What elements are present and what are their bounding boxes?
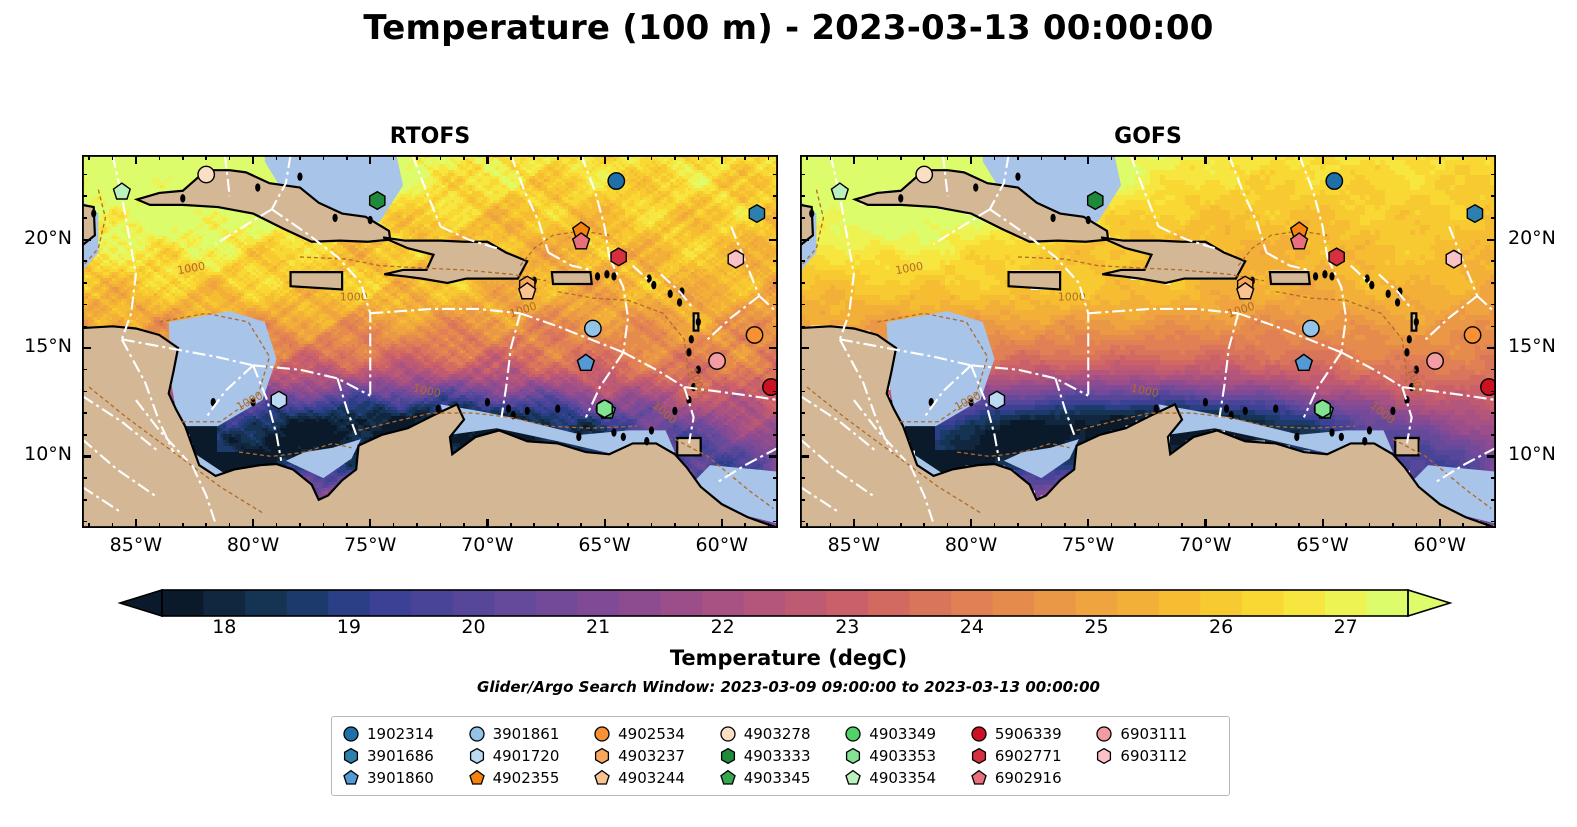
tick	[346, 523, 348, 528]
tick	[1017, 155, 1019, 160]
xtick-label-gofs-2: 75°W	[1048, 534, 1128, 556]
xtick-label-gofs-1: 80°W	[931, 534, 1011, 556]
tick	[800, 304, 805, 306]
tick	[853, 519, 855, 528]
tick	[1491, 521, 1496, 523]
colorbar-band	[1200, 590, 1242, 616]
tick	[252, 519, 254, 528]
legend-item-4903345[interactable]: 4903345	[719, 769, 845, 787]
tick	[182, 155, 184, 160]
tick	[1486, 155, 1488, 160]
colorbar-band	[1283, 590, 1325, 616]
tick	[1491, 304, 1496, 306]
tick	[800, 434, 805, 436]
tick	[698, 155, 700, 160]
legend-marker-hexagon-icon	[1095, 747, 1113, 765]
legend-marker-pentagon-icon	[342, 769, 360, 787]
colorbar-band	[453, 590, 495, 616]
tick	[947, 523, 949, 528]
search-window-caption: Glider/Argo Search Window: 2023-03-09 09…	[0, 678, 1577, 696]
tick	[276, 523, 278, 528]
legend-label: 6902916	[995, 769, 1062, 787]
tick	[830, 523, 832, 528]
legend-marker-pentagon-icon	[593, 769, 611, 787]
legend-label: 4902534	[618, 725, 685, 743]
legend-label: 4903244	[618, 769, 685, 787]
legend-label: 4903345	[744, 769, 811, 787]
tick	[1111, 523, 1113, 528]
legend-label: 6902771	[995, 747, 1062, 765]
legend-marker-hexagon-icon	[844, 747, 862, 765]
ytick-label-left-2: 10°N	[4, 443, 72, 465]
tick	[346, 155, 348, 160]
tick	[994, 523, 996, 528]
xtick-label-gofs-3: 70°W	[1165, 534, 1245, 556]
tick	[82, 304, 87, 306]
tick	[773, 260, 778, 262]
colorbar-band	[1242, 590, 1284, 616]
tick	[557, 155, 559, 160]
tick	[440, 155, 442, 160]
tick	[773, 369, 778, 371]
legend-label: 4903333	[744, 747, 811, 765]
colorbar-band	[951, 590, 993, 616]
tick	[393, 523, 395, 528]
tick	[580, 155, 582, 160]
tick	[1486, 523, 1488, 528]
legend-label: 4903353	[869, 747, 936, 765]
tick	[112, 155, 114, 160]
tick	[557, 523, 559, 528]
tick	[800, 174, 805, 176]
legend-marker-circle-icon	[970, 725, 988, 743]
colorbar-band	[287, 590, 329, 616]
xtick-label-rtofs-5: 60°W	[682, 534, 762, 556]
legend-marker-pentagon-icon	[468, 769, 486, 787]
legend-item-4903349[interactable]: 4903349	[844, 725, 970, 743]
tick	[773, 326, 778, 328]
tick	[674, 155, 676, 160]
colorbar-band	[245, 590, 287, 616]
tick	[1392, 523, 1394, 528]
tick	[1487, 347, 1496, 349]
tick	[82, 174, 87, 176]
tick	[773, 434, 778, 436]
tick	[773, 282, 778, 284]
tick	[773, 391, 778, 393]
legend-item-4901720[interactable]: 4901720	[468, 747, 594, 765]
tick	[1345, 155, 1347, 160]
legend-label: 4903237	[618, 747, 685, 765]
colorbar-band	[204, 590, 246, 616]
tick	[276, 155, 278, 160]
tick	[416, 155, 418, 160]
tick	[1251, 523, 1253, 528]
legend-marker-circle-icon	[468, 725, 486, 743]
tick	[135, 519, 137, 528]
colorbar-tick-label-5: 23	[807, 616, 887, 638]
tick	[800, 282, 805, 284]
colorbar-band	[993, 590, 1035, 616]
tick	[82, 477, 87, 479]
figure-root: Temperature (100 m) - 2023-03-13 00:00:0…	[0, 0, 1577, 827]
colorbar-tick-label-8: 26	[1181, 616, 1261, 638]
tick	[877, 523, 879, 528]
legend-marker-hexagon-icon	[593, 747, 611, 765]
tick	[1298, 523, 1300, 528]
tick	[510, 155, 512, 160]
colorbar-tick-label-4: 22	[683, 616, 763, 638]
ytick-label-left-1: 15°N	[4, 335, 72, 357]
tick	[1228, 155, 1230, 160]
ytick-label-left-0: 20°N	[4, 227, 72, 249]
tick	[1487, 455, 1496, 457]
legend-marker-hexagon-icon	[719, 747, 737, 765]
tick	[1228, 523, 1230, 528]
legend-grid: 1902314390186149025344903278490334959063…	[342, 723, 1221, 789]
legend-item-4903244[interactable]: 4903244	[593, 769, 719, 787]
tick	[900, 523, 902, 528]
tick	[252, 155, 254, 164]
tick	[299, 155, 301, 160]
legend-label: 1902314	[367, 725, 434, 743]
colorbar-band	[370, 590, 412, 616]
tick	[82, 455, 91, 457]
tick	[82, 326, 87, 328]
colorbar-band	[1325, 590, 1367, 616]
colorbar-band	[785, 590, 827, 616]
tick	[88, 523, 90, 528]
tick	[800, 499, 805, 501]
colorbar-extend-max	[1408, 590, 1450, 616]
panel-gofs: GOFS100010001000100010001000100085°W80°W…	[800, 155, 1496, 528]
colorbar-tick-label-7: 25	[1057, 616, 1137, 638]
legend-label: 5906339	[995, 725, 1062, 743]
colorbar	[0, 0, 1577, 120]
tick	[82, 434, 87, 436]
colorbar-tick-label-3: 21	[558, 616, 638, 638]
legend-item-1902314[interactable]: 1902314	[342, 725, 468, 743]
legend-marker-pentagon-icon	[970, 769, 988, 787]
xtick-label-rtofs-4: 65°W	[565, 534, 645, 556]
tick	[229, 523, 231, 528]
tick	[82, 347, 91, 349]
tick	[877, 155, 879, 160]
tick	[1462, 523, 1464, 528]
tick	[1298, 155, 1300, 160]
tick	[510, 523, 512, 528]
tick	[82, 391, 87, 393]
ytick-label-right-1: 15°N	[1508, 335, 1556, 357]
tick	[229, 155, 231, 160]
colorbar-tick-label-2: 20	[434, 616, 514, 638]
tick	[1369, 155, 1371, 160]
colorbar-band	[494, 590, 536, 616]
legend-label: 6903111	[1120, 725, 1187, 743]
legend-item-4903333[interactable]: 4903333	[719, 747, 845, 765]
tick	[82, 217, 87, 219]
tick	[1158, 155, 1160, 160]
ytick-label-right-0: 20°N	[1508, 227, 1556, 249]
tick	[463, 523, 465, 528]
tick	[1204, 519, 1206, 528]
tick	[1087, 519, 1089, 528]
colorbar-band	[328, 590, 370, 616]
legend-marker-circle-icon	[844, 725, 862, 743]
tick	[769, 347, 778, 349]
legend-marker-circle-icon	[1095, 725, 1113, 743]
panel-title-gofs: GOFS	[800, 124, 1496, 149]
tick	[1491, 412, 1496, 414]
legend-marker-hexagon-icon	[342, 747, 360, 765]
tick	[1487, 239, 1496, 241]
legend-label: 4901720	[493, 747, 560, 765]
tick	[1369, 523, 1371, 528]
tick	[1439, 519, 1441, 528]
colorbar-tick-label-9: 27	[1306, 616, 1386, 638]
tick	[82, 195, 87, 197]
tick	[853, 155, 855, 164]
tick	[800, 217, 805, 219]
tick	[800, 195, 805, 197]
tick	[1462, 155, 1464, 160]
tick	[1491, 499, 1496, 501]
legend-item-5906339[interactable]: 5906339	[970, 725, 1096, 743]
legend-marker-pentagon-icon	[844, 769, 862, 787]
tick	[1491, 326, 1496, 328]
tick	[800, 412, 805, 414]
tick	[698, 523, 700, 528]
tick	[82, 412, 87, 414]
tick	[112, 523, 114, 528]
tick	[773, 174, 778, 176]
tick	[900, 155, 902, 160]
legend-marker-pentagon-icon	[719, 769, 737, 787]
tick	[369, 155, 371, 164]
tick	[1158, 523, 1160, 528]
legend-item-6903111[interactable]: 6903111	[1095, 725, 1221, 743]
tick	[82, 239, 91, 241]
legend-item-3901860[interactable]: 3901860	[342, 769, 468, 787]
xtick-label-rtofs-1: 80°W	[213, 534, 293, 556]
tick	[580, 523, 582, 528]
tick	[800, 369, 805, 371]
legend-item-4902534[interactable]: 4902534	[593, 725, 719, 743]
legend-item-3901686[interactable]: 3901686	[342, 747, 468, 765]
tick	[800, 391, 805, 393]
legend-item-4903353[interactable]: 4903353	[844, 747, 970, 765]
colorbar-band	[827, 590, 869, 616]
tick	[1491, 369, 1496, 371]
legend-marker-circle-icon	[719, 725, 737, 743]
tick	[533, 523, 535, 528]
tick	[82, 282, 87, 284]
colorbar-band	[743, 590, 785, 616]
tick	[1416, 523, 1418, 528]
tick	[947, 155, 949, 160]
legend-item-3901861[interactable]: 3901861	[468, 725, 594, 743]
tick	[1134, 523, 1136, 528]
tick	[88, 155, 90, 160]
tick	[416, 523, 418, 528]
tick	[1322, 519, 1324, 528]
tick	[773, 195, 778, 197]
tick	[768, 523, 770, 528]
tick	[769, 239, 778, 241]
tick	[994, 155, 996, 160]
float-legend: 1902314390186149025344903278490334959063…	[331, 716, 1230, 796]
tick	[1491, 260, 1496, 262]
xtick-label-gofs-4: 65°W	[1283, 534, 1363, 556]
legend-item-4902355[interactable]: 4902355	[468, 769, 594, 787]
xtick-label-gofs-5: 60°W	[1400, 534, 1480, 556]
tick-marks-gofs	[800, 155, 1496, 528]
tick	[1111, 155, 1113, 160]
tick	[1322, 155, 1324, 164]
legend-label: 3901861	[493, 725, 560, 743]
tick	[533, 155, 535, 160]
tick	[486, 519, 488, 528]
tick	[1041, 155, 1043, 160]
colorbar-band	[1117, 590, 1159, 616]
tick	[182, 523, 184, 528]
legend-item-4903278[interactable]: 4903278	[719, 725, 845, 743]
tick	[604, 155, 606, 164]
tick	[205, 523, 207, 528]
tick	[82, 521, 87, 523]
tick	[1491, 174, 1496, 176]
tick	[159, 523, 161, 528]
tick	[1251, 155, 1253, 160]
colorbar-band	[1076, 590, 1118, 616]
tick	[82, 499, 87, 501]
colorbar-tick-label-0: 18	[184, 616, 264, 638]
tick	[1392, 155, 1394, 160]
colorbar-band	[411, 590, 453, 616]
colorbar-tick-label-1: 19	[309, 616, 389, 638]
legend-marker-circle-icon	[593, 725, 611, 743]
legend-item-4903354[interactable]: 4903354	[844, 769, 970, 787]
tick	[768, 155, 770, 160]
tick	[1491, 282, 1496, 284]
tick	[82, 260, 87, 262]
tick	[1064, 523, 1066, 528]
legend-item-6902771[interactable]: 6902771	[970, 747, 1096, 765]
colorbar-band	[577, 590, 619, 616]
tick	[323, 155, 325, 160]
legend-label: 6903112	[1120, 747, 1187, 765]
tick	[800, 260, 805, 262]
tick	[627, 155, 629, 160]
tick	[135, 155, 137, 164]
legend-label: 4902355	[493, 769, 560, 787]
legend-marker-hexagon-icon	[468, 747, 486, 765]
colorbar-band	[162, 590, 204, 616]
legend-label: 4903278	[744, 725, 811, 743]
colorbar-band	[910, 590, 952, 616]
colorbar-band	[619, 590, 661, 616]
tick	[205, 155, 207, 160]
legend-label: 3901686	[367, 747, 434, 765]
tick	[1491, 391, 1496, 393]
tick	[1181, 155, 1183, 160]
tick	[773, 477, 778, 479]
tick	[800, 455, 809, 457]
tick	[744, 155, 746, 160]
tick	[323, 523, 325, 528]
tick	[744, 523, 746, 528]
xtick-label-rtofs-0: 85°W	[96, 534, 176, 556]
tick	[1491, 477, 1496, 479]
tick	[1491, 217, 1496, 219]
tick	[369, 519, 371, 528]
colorbar-band	[1034, 590, 1076, 616]
colorbar-extend-min	[120, 590, 162, 616]
tick	[800, 477, 805, 479]
legend-item-6902916[interactable]: 6902916	[970, 769, 1096, 787]
ytick-label-right-2: 10°N	[1508, 443, 1556, 465]
tick	[970, 155, 972, 164]
colorbar-label: Temperature (degC)	[0, 646, 1577, 670]
tick	[393, 155, 395, 160]
tick	[604, 519, 606, 528]
colorbar-band	[868, 590, 910, 616]
tick	[1345, 523, 1347, 528]
tick	[1041, 523, 1043, 528]
tick	[769, 455, 778, 457]
legend-marker-hexagon-icon	[970, 747, 988, 765]
tick	[806, 523, 808, 528]
colorbar-band	[702, 590, 744, 616]
tick	[1181, 523, 1183, 528]
xtick-label-rtofs-2: 75°W	[330, 534, 410, 556]
tick	[82, 369, 87, 371]
tick	[923, 155, 925, 160]
colorbar-band	[660, 590, 702, 616]
legend-item-6903112[interactable]: 6903112	[1095, 747, 1221, 765]
colorbar-band	[536, 590, 578, 616]
tick	[721, 519, 723, 528]
tick	[800, 239, 809, 241]
tick	[773, 412, 778, 414]
panel-rtofs: RTOFS100010001000100010001000100085°W80°…	[82, 155, 778, 528]
tick	[486, 155, 488, 164]
tick	[800, 326, 805, 328]
tick	[970, 519, 972, 528]
legend-label: 4903354	[869, 769, 936, 787]
legend-label: 4903349	[869, 725, 936, 743]
tick	[800, 347, 809, 349]
legend-marker-circle-icon	[342, 725, 360, 743]
legend-label: 3901860	[367, 769, 434, 787]
tick	[674, 523, 676, 528]
tick	[773, 217, 778, 219]
tick	[721, 155, 723, 164]
tick	[773, 499, 778, 501]
tick	[1416, 155, 1418, 160]
legend-item-4903237[interactable]: 4903237	[593, 747, 719, 765]
tick	[806, 155, 808, 160]
tick	[440, 523, 442, 528]
tick	[627, 523, 629, 528]
tick	[773, 304, 778, 306]
xtick-label-rtofs-3: 70°W	[447, 534, 527, 556]
tick	[1439, 155, 1441, 164]
tick	[299, 523, 301, 528]
tick	[1017, 523, 1019, 528]
panel-title-rtofs: RTOFS	[82, 124, 778, 149]
xtick-label-gofs-0: 85°W	[814, 534, 894, 556]
